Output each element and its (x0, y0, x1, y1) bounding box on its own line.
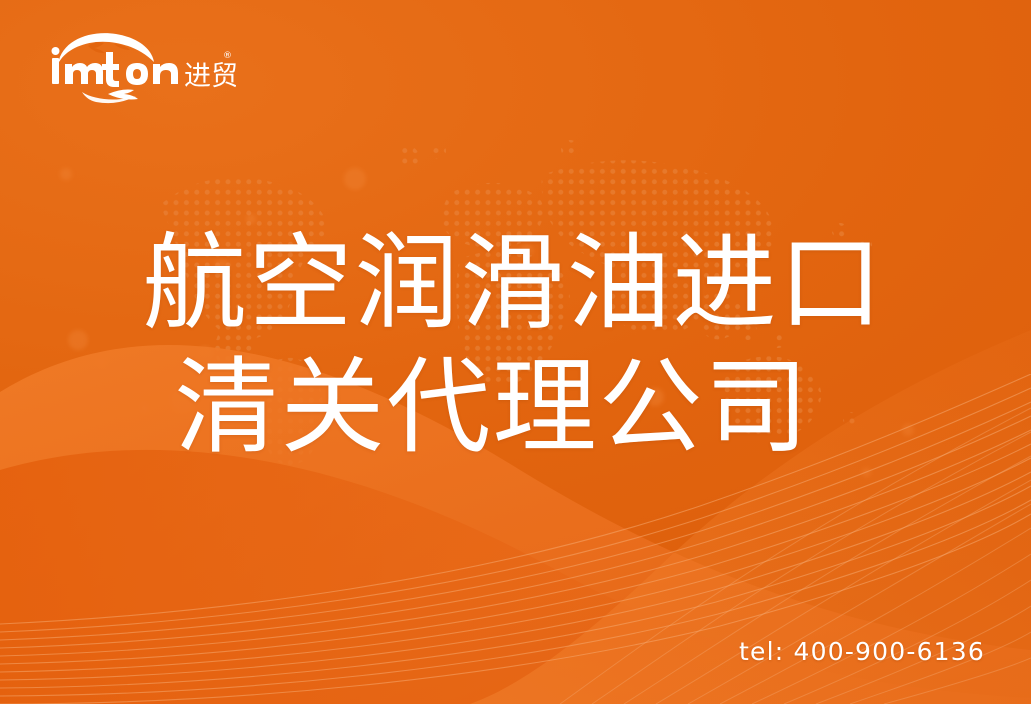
company-logo[interactable]: 进贸通 ® (36, 28, 236, 104)
promotional-banner: 进贸通 ® 航空润滑油进口 清关代理公司 tel: 400-900-6136 (0, 0, 1031, 704)
headline-line-2: 清关代理公司 (0, 346, 1031, 470)
headline-line-1: 航空润滑油进口 (0, 222, 1031, 346)
page-title: 航空润滑油进口 清关代理公司 (0, 222, 1031, 470)
contact-phone: tel: 400-900-6136 (739, 637, 985, 666)
logo-chinese-text: 进贸通 (184, 61, 236, 92)
swoosh-plane-icon (82, 90, 138, 104)
registered-trademark-icon: ® (223, 51, 232, 61)
imton-wordmark (52, 47, 179, 87)
